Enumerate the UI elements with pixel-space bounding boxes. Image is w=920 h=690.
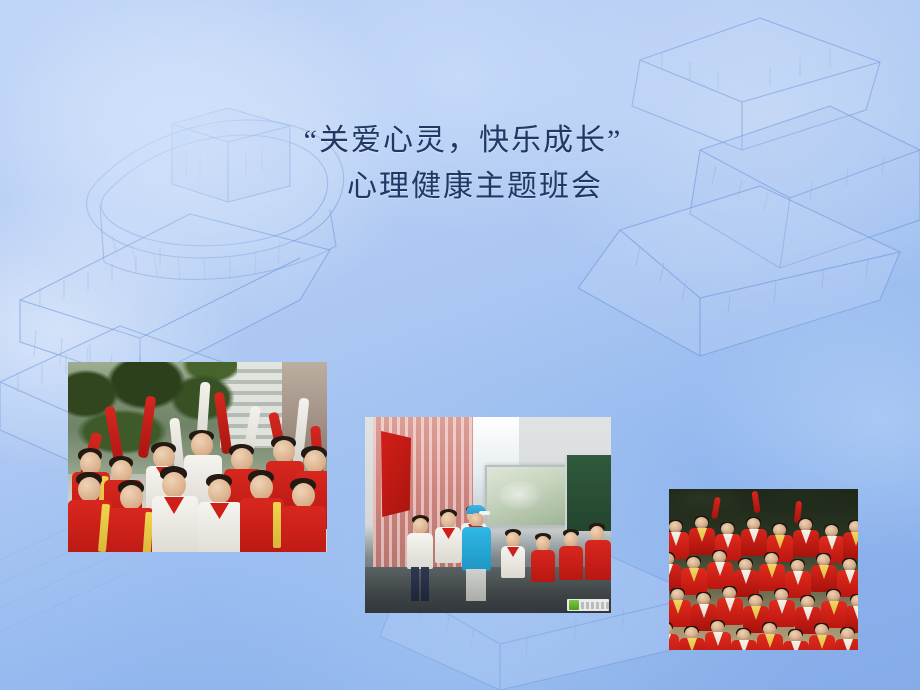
photo-group-red-uniforms[interactable]: [669, 489, 858, 650]
title-line-primary: “关爱心灵，快乐成长”: [0, 118, 920, 164]
photo2-blackboard: [565, 455, 611, 531]
slide-title: “关爱心灵，快乐成长” 心理健康主题班会: [0, 118, 920, 210]
presentation-slide: “关爱心灵，快乐成长” 心理健康主题班会: [0, 0, 920, 690]
photo-children-cheering-outdoors[interactable]: [68, 362, 327, 552]
photo2-projector-screen: [485, 465, 567, 527]
photo-classroom-presentation[interactable]: [365, 417, 611, 613]
photo2-national-flag: [381, 431, 411, 517]
photo2-speaking-child: [461, 505, 491, 601]
photo2-child-jacket: [462, 527, 491, 571]
photo2-child-pants: [466, 569, 486, 601]
photo2-watermark-badge: [567, 599, 609, 611]
watermark-logo-icon: [569, 600, 579, 610]
watermark-text-bars: [581, 602, 609, 609]
title-line-secondary: 心理健康主题班会: [0, 164, 920, 210]
photo2-child-face: [469, 513, 484, 527]
photo3-crowd: [669, 515, 858, 650]
